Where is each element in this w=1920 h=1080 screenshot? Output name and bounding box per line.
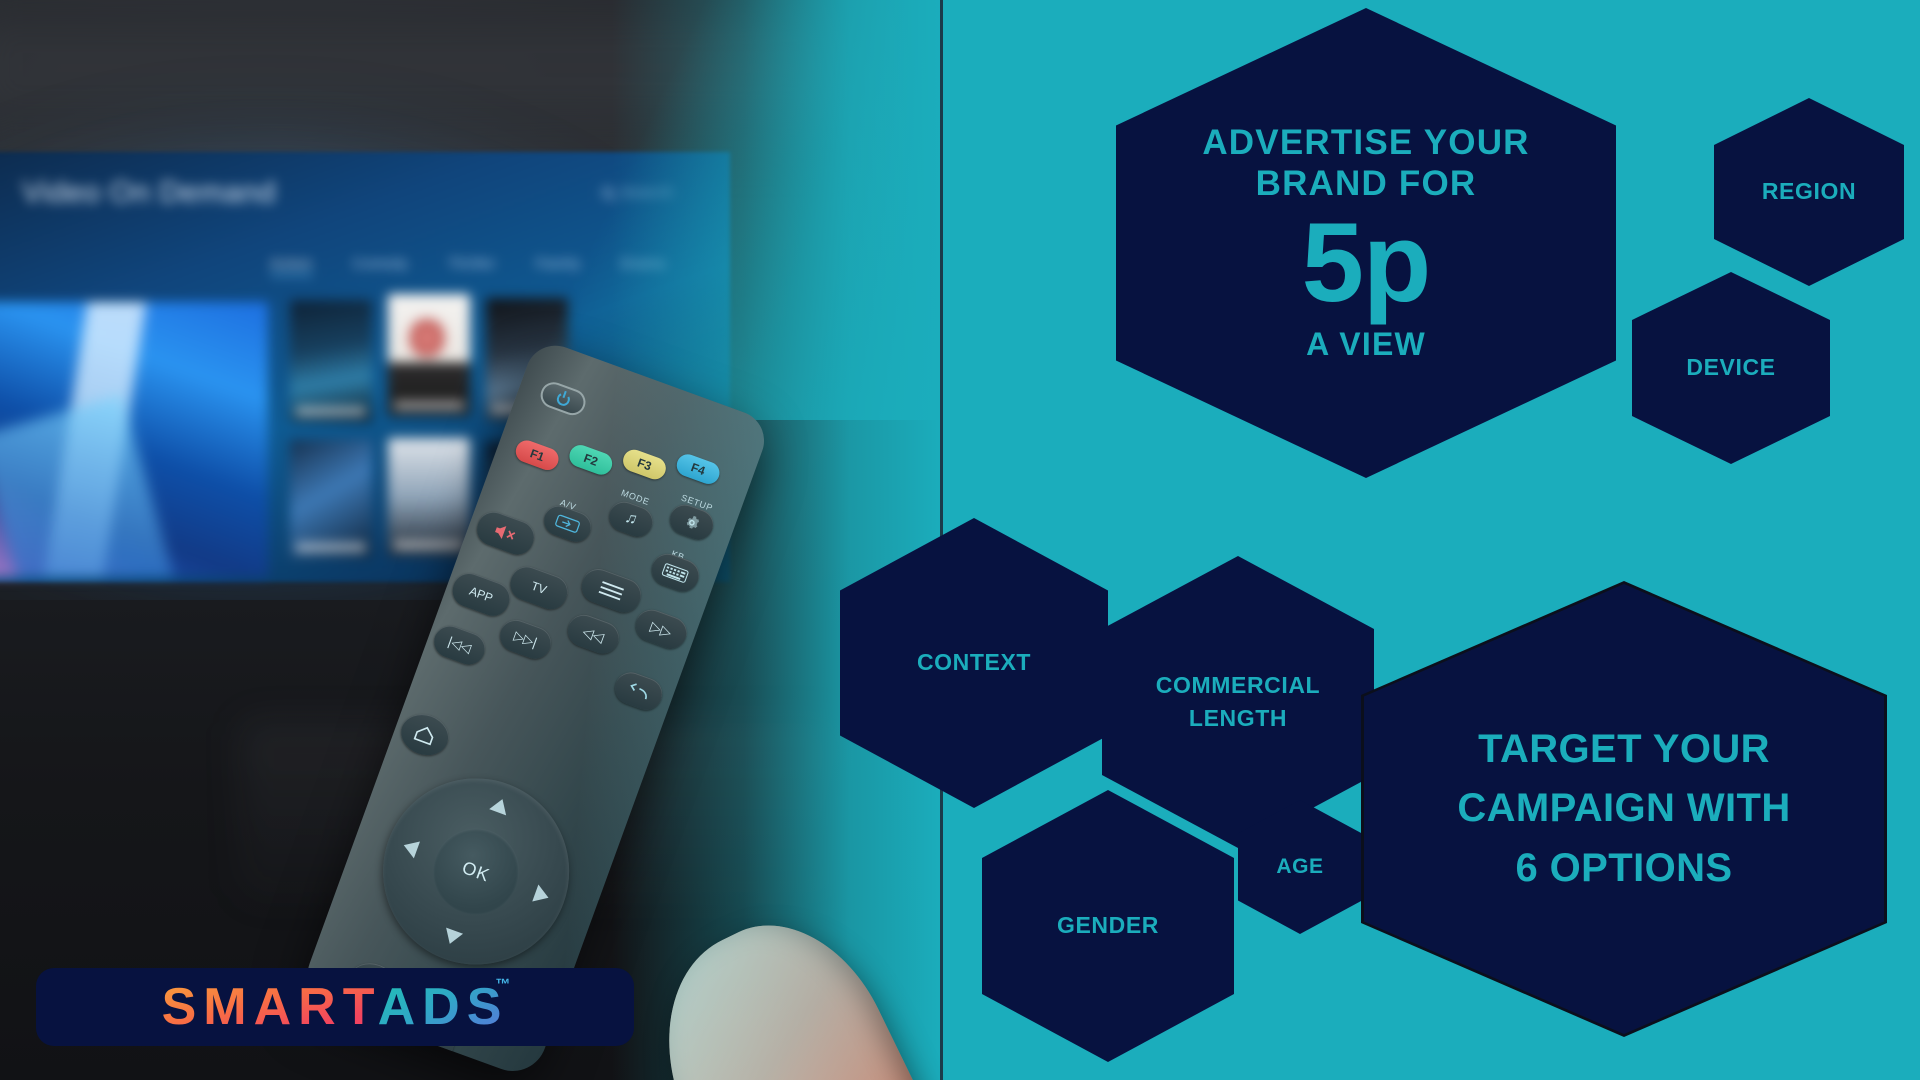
hex-target-content: TARGET YOUR CAMPAIGN WITH 6 OPTIONS: [1457, 720, 1790, 898]
previous-track-icon: |◁◁: [446, 634, 473, 657]
tile-caption: [394, 401, 464, 410]
tile-caption: [394, 541, 464, 550]
hex-label-device: DEVICE: [1686, 354, 1775, 381]
hex-label-commercial-length-line1: COMMERCIAL: [1156, 672, 1320, 698]
tv-tile[interactable]: [388, 438, 470, 556]
tv-nav-item[interactable]: Comedy: [353, 255, 409, 276]
hex-label-region: REGION: [1762, 178, 1856, 205]
tv-nav-item[interactable]: Action: [270, 255, 313, 276]
tv-tile[interactable]: [290, 300, 372, 422]
hex-main-content: ADVERTISE YOUR BRAND FOR 5p A VIEW: [1202, 122, 1529, 364]
hex-label-commercial-length: COMMERCIAL LENGTH: [1156, 669, 1320, 736]
target-line-2: CAMPAIGN WITH: [1457, 779, 1790, 838]
hex-target-campaign: TARGET YOUR CAMPAIGN WITH 6 OPTIONS: [1364, 584, 1884, 1034]
target-line-3: 6 OPTIONS: [1457, 839, 1790, 898]
logo-wordmark: SMARTADS™: [162, 981, 509, 1033]
offer-line-2: BRAND FOR: [1202, 163, 1529, 204]
dpad-down-icon[interactable]: [441, 928, 463, 947]
dpad-up-icon[interactable]: [489, 796, 511, 815]
tile-caption: [296, 543, 366, 552]
tv-hero-artwork[interactable]: [0, 302, 268, 577]
logo-trademark: ™: [495, 977, 510, 992]
home-icon: [411, 722, 439, 748]
av-input-icon: [554, 512, 582, 535]
logo-ads-text: ADS: [378, 978, 509, 1036]
offer-line-1: ADVERTISE YOUR: [1202, 122, 1529, 163]
back-arrow-icon: [626, 680, 652, 703]
hex-option-commercial-length[interactable]: COMMERCIAL LENGTH: [1102, 556, 1374, 848]
keyboard-icon: [661, 561, 691, 584]
smartads-logo[interactable]: SMARTADS™: [36, 968, 634, 1046]
hex-label-age: AGE: [1276, 855, 1323, 880]
logo-smart-text: SMART: [162, 978, 378, 1036]
tile-caption: [296, 407, 366, 416]
hamburger-menu-icon: [596, 579, 626, 603]
hex-option-device[interactable]: DEVICE: [1632, 272, 1830, 464]
thumb-pressing-ok: [623, 892, 952, 1080]
ok-button[interactable]: OK: [421, 816, 531, 926]
hex-main-offer: ADVERTISE YOUR BRAND FOR 5p A VIEW: [1116, 8, 1616, 478]
hex-option-gender[interactable]: GENDER: [982, 790, 1234, 1062]
fast-forward-icon: ▷▷: [648, 617, 674, 640]
offer-price: 5p: [1202, 209, 1529, 317]
mute-icon: [491, 521, 520, 546]
music-note-icon: ♫: [622, 509, 639, 530]
target-line-1: TARGET YOUR: [1457, 720, 1790, 779]
dpad-left-icon[interactable]: [401, 837, 420, 859]
next-track-icon: ▷▷|: [512, 628, 539, 651]
tv-title: Video On Demand: [22, 176, 276, 210]
gear-icon: [681, 511, 703, 533]
power-icon: [555, 390, 572, 407]
hex-label-context: CONTEXT: [917, 649, 1031, 676]
dpad-right-icon[interactable]: [532, 885, 551, 907]
rewind-icon: ◁◁: [580, 623, 606, 646]
hex-label-commercial-length-line2: LENGTH: [1189, 705, 1287, 731]
banner-stage: Video On Demand Search Action Comedy Thr…: [0, 0, 1920, 1080]
hex-label-gender: GENDER: [1057, 912, 1159, 939]
tv-tile[interactable]: [388, 294, 470, 416]
offer-line-3: A VIEW: [1202, 326, 1529, 364]
hex-option-region[interactable]: REGION: [1714, 98, 1904, 286]
tv-tile[interactable]: [290, 440, 372, 558]
